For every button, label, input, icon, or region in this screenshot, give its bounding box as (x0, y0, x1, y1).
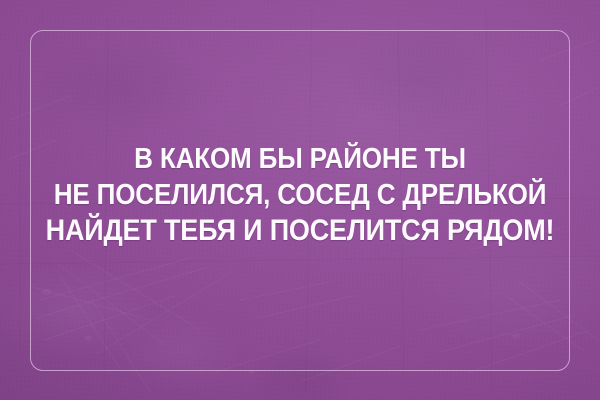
quote-line-1: В КАКОМ БЫ РАЙОНЕ ТЫ (26, 141, 575, 177)
quote-text-block: В КАКОМ БЫ РАЙОНЕ ТЫ НЕ ПОСЕЛИЛСЯ, СОСЕД… (0, 141, 600, 249)
quote-line-2: НЕ ПОСЕЛИЛСЯ, СОСЕД С ДРЕЛЬКОЙ (26, 177, 575, 213)
quote-line-3: НАЙДЕТ ТЕБЯ И ПОСЕЛИТСЯ РЯДОМ! (26, 213, 575, 249)
quote-card: В КАКОМ БЫ РАЙОНЕ ТЫ НЕ ПОСЕЛИЛСЯ, СОСЕД… (0, 0, 600, 400)
